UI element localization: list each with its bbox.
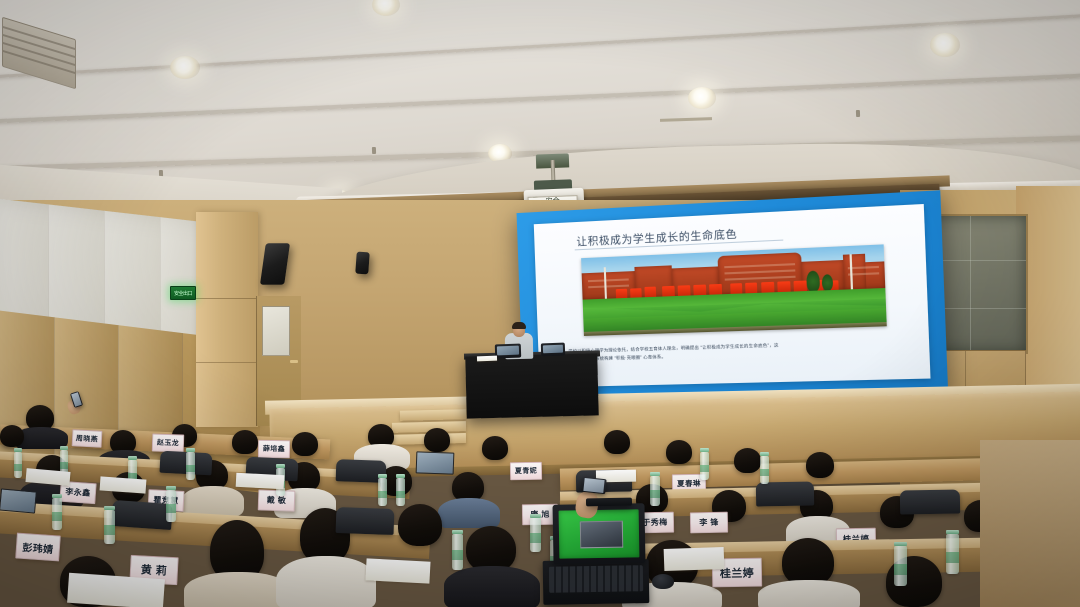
water-bottle[interactable] [894, 546, 907, 586]
name-card-label: 戴 敏 [267, 495, 287, 507]
handout-paper[interactable] [67, 573, 165, 607]
wall-speaker-left-2 [355, 252, 370, 275]
attendee-shoulders [444, 566, 540, 607]
water-bottle[interactable] [186, 452, 195, 480]
name-card-label: 桂兰婷 [720, 564, 754, 581]
auditorium-seat[interactable] [111, 500, 173, 530]
name-card-label: 彭玮婧 [22, 538, 54, 555]
name-card-label: 夏青妮 [515, 466, 537, 476]
water-bottle[interactable] [378, 478, 387, 506]
sprinkler-head [856, 110, 860, 117]
attendee-head [806, 452, 834, 478]
podium-laptop-right[interactable] [541, 343, 565, 357]
attendee-head [666, 440, 692, 464]
name-card: 周晓燕 [72, 429, 103, 448]
name-card-label: 黄 莉 [140, 561, 167, 578]
exit-sign: 安全出口 [170, 286, 196, 300]
attendee-laptop[interactable] [586, 498, 632, 507]
auditorium-seat[interactable] [756, 481, 814, 506]
attendee-shoulders [438, 498, 500, 528]
podium-table [465, 353, 598, 418]
foreground-laptop-keyboard[interactable] [549, 565, 643, 593]
slide-photo-tree [806, 271, 820, 293]
name-card: 赵玉龙 [152, 433, 185, 452]
water-bottle[interactable] [14, 452, 22, 478]
attendee-shoulders [182, 486, 244, 516]
attendee-head [482, 436, 508, 460]
name-card: 夏青妮 [510, 462, 542, 481]
name-card-label: 李永鑫 [65, 486, 91, 499]
attendee-head [398, 504, 442, 546]
attendee-head [604, 430, 630, 454]
name-card: 彭玮婧 [15, 532, 61, 561]
lecture-hall-scene: 安全 安全出口 让积极成为学生成长的生命底色 [0, 0, 1080, 607]
handout-paper[interactable] [100, 476, 147, 493]
name-card-label: 周晓燕 [76, 433, 99, 444]
name-card-label: 赵玉龙 [157, 438, 180, 449]
water-bottle[interactable] [52, 498, 62, 530]
attendee-phone-raised[interactable] [581, 477, 606, 494]
auditorium-seat[interactable] [336, 507, 395, 535]
attendee-head [424, 428, 450, 452]
attendee-head [734, 448, 761, 473]
computer-mouse[interactable] [652, 574, 674, 589]
door-window [262, 306, 290, 356]
handout-paper[interactable] [365, 558, 430, 583]
foreground-laptop-screen [559, 509, 640, 558]
name-card: 薛培鑫 [258, 440, 290, 459]
water-bottle[interactable] [104, 510, 115, 544]
name-card-label: 于秀梅 [642, 517, 667, 528]
name-card-label: 夏春琳 [677, 478, 701, 489]
water-bottle[interactable] [530, 518, 541, 552]
slide-body-text: 学校以积极心理学为理论依托，结合学校五育体人理念，明确提出 “让积极成为学生成长… [568, 338, 900, 364]
water-bottle[interactable] [760, 456, 769, 484]
attendee-head [232, 430, 258, 454]
ceiling-downlight [688, 87, 716, 109]
auditorium-seat[interactable] [900, 489, 960, 514]
laptop-video-feed [580, 520, 624, 548]
water-bottle[interactable] [650, 476, 660, 506]
attendee-shoulders [758, 580, 860, 607]
attendee-laptop-2[interactable] [416, 451, 455, 474]
attendee-head [292, 432, 318, 456]
wall-pillar [196, 212, 258, 427]
attendee-head [782, 538, 834, 586]
speaker-hair [512, 322, 526, 329]
water-bottle[interactable] [452, 534, 463, 570]
sprinkler-head [372, 147, 376, 154]
attendee-shoulders [276, 556, 376, 607]
exit-sign-label: 安全出口 [174, 290, 192, 297]
water-bottle[interactable] [166, 490, 176, 522]
water-bottle[interactable] [396, 478, 405, 506]
podium-laptop-left[interactable] [495, 344, 521, 359]
projector-pole [551, 160, 556, 182]
ceiling-downlight [170, 56, 200, 79]
door-handle[interactable] [290, 360, 298, 363]
attendee-head [0, 425, 24, 447]
water-bottle[interactable] [946, 534, 959, 574]
stage-step-1 [400, 409, 466, 421]
name-card-label: 李 锋 [699, 517, 719, 528]
handout-paper[interactable] [664, 547, 725, 571]
aisle-floor [980, 440, 1080, 607]
attendee-laptop-3[interactable] [0, 488, 37, 513]
handout-paper[interactable] [236, 473, 285, 489]
ceiling-downlight [930, 33, 960, 57]
podium-paper [477, 356, 497, 362]
water-bottle[interactable] [700, 452, 709, 480]
slide-photo [581, 244, 887, 336]
name-card: 李 锋 [690, 512, 728, 534]
name-card-label: 薛培鑫 [263, 444, 285, 454]
